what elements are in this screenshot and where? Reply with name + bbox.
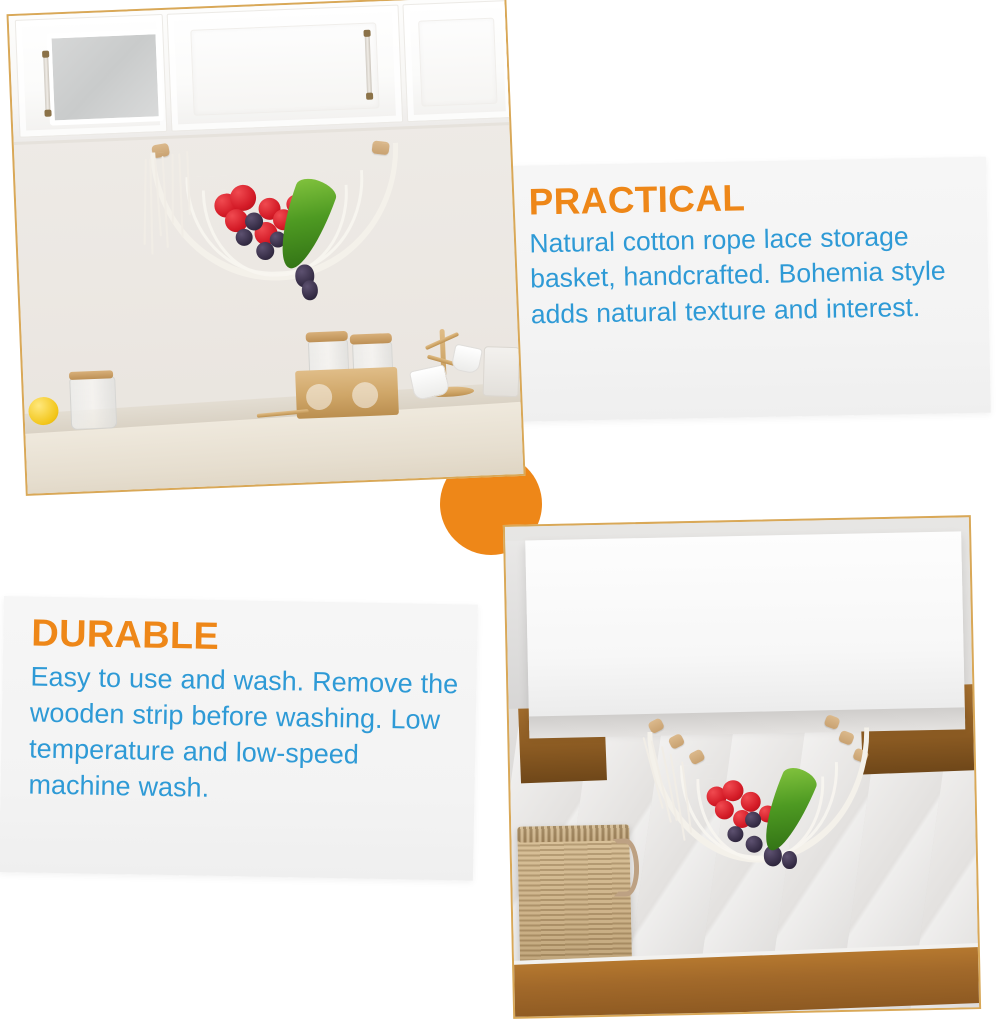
cabinet-door-right xyxy=(402,0,513,122)
infographic-canvas: PRACTICAL Natural cotton rope lace stora… xyxy=(0,0,1000,1024)
wooden-bottle-rack xyxy=(295,367,399,419)
feature-card-durable-body: DURABLE Easy to use and wash. Remove the… xyxy=(28,615,461,811)
wall-cabinet-row xyxy=(9,0,510,145)
grape xyxy=(301,280,318,301)
feature-description-durable: Easy to use and wash. Remove the wooden … xyxy=(28,658,461,811)
feature-title-practical: PRACTICAL xyxy=(528,175,971,222)
glass-jar-small xyxy=(69,376,117,430)
hammock-fringe xyxy=(144,159,147,245)
hammock-fringe xyxy=(171,154,173,224)
feature-card-practical: PRACTICAL Natural cotton rope lace stora… xyxy=(500,157,991,422)
cabinet-door-center xyxy=(167,4,404,131)
photo-kitchen-cabinet xyxy=(7,0,526,496)
overhead-cabinet xyxy=(525,531,965,730)
jar-lid xyxy=(306,331,348,343)
handle-knob-bottom xyxy=(366,93,373,100)
rack-hole-right xyxy=(352,382,379,409)
photo-kitchen-cabinet-content xyxy=(9,0,524,494)
feature-description-practical: Natural cotton rope lace storage basket,… xyxy=(529,218,973,333)
plate-rack xyxy=(483,346,520,397)
wicker-laundry-basket xyxy=(517,824,632,976)
handle-knob-top xyxy=(42,51,49,58)
fruit-hammock-basket xyxy=(639,709,875,904)
feature-card-durable: DURABLE Easy to use and wash. Remove the… xyxy=(0,596,478,881)
photo-tile-wall xyxy=(503,515,981,1019)
kitchen-counter-area xyxy=(22,342,523,494)
fruit-hammock-basket xyxy=(124,130,431,327)
feature-title-durable: DURABLE xyxy=(31,615,462,663)
handle-knob-top xyxy=(363,30,370,37)
cabinet-glass-panel xyxy=(46,29,164,126)
photo-tile-wall-content xyxy=(505,517,979,1017)
cabinet-door-left xyxy=(15,14,168,138)
grape xyxy=(782,851,797,869)
cabinet-panel-inset xyxy=(418,18,497,107)
feature-card-practical-body: PRACTICAL Natural cotton rope lace stora… xyxy=(528,175,973,333)
handle-knob-bottom xyxy=(44,110,51,117)
hanging-cup-upper xyxy=(450,343,483,374)
jar-lid xyxy=(350,333,392,345)
cabinet-panel-inset xyxy=(190,22,379,115)
rack-hole-left xyxy=(306,383,333,410)
